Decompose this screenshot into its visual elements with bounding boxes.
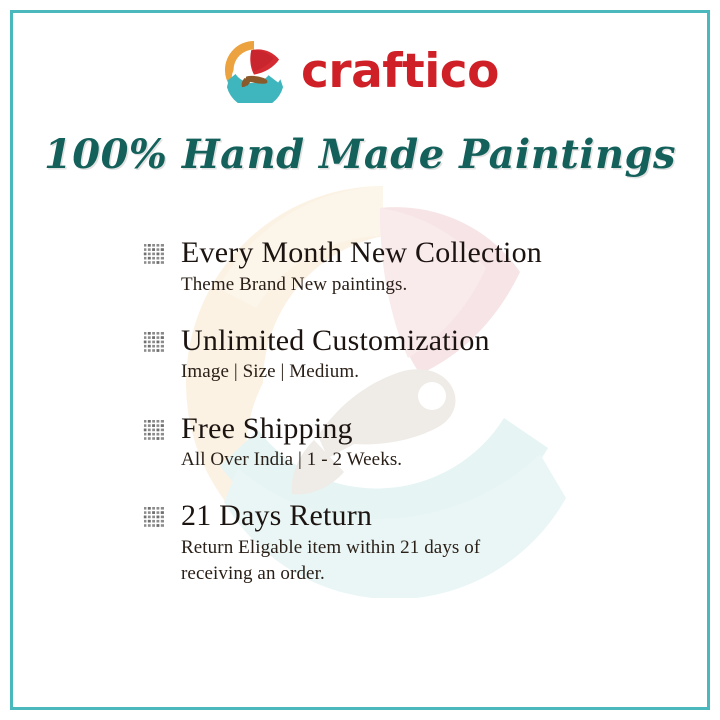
feature-text-block: Free Shipping All Over India | 1 - 2 Wee… — [181, 412, 613, 474]
feature-title: 21 Days Return — [181, 499, 613, 533]
craftico-circle-brush-logo-icon — [221, 37, 287, 103]
feature-subtitle: Theme Brand New paintings. — [181, 272, 613, 298]
page-title: 100% Hand Made Paintings — [0, 131, 720, 178]
brand-wordmark: craftico — [301, 48, 499, 95]
feature-title: Every Month New Collection — [181, 236, 613, 270]
feature-title: Unlimited Customization — [181, 324, 613, 358]
banner-canvas: craftico 100% Hand Made Paintings — [0, 0, 720, 720]
feature-title: Free Shipping — [181, 412, 613, 446]
woven-grid-bullet-icon — [143, 506, 165, 528]
feature-text-block: Unlimited Customization Image | Size | M… — [181, 324, 613, 386]
feature-subtitle: Return Eligable item within 21 days of r… — [181, 535, 541, 587]
woven-grid-bullet-icon — [143, 331, 165, 353]
feature-subtitle: Image | Size | Medium. — [181, 359, 613, 385]
list-item: Free Shipping All Over India | 1 - 2 Wee… — [143, 412, 613, 474]
feature-list: Every Month New Collection Theme Brand N… — [143, 236, 613, 587]
feature-subtitle: All Over India | 1 - 2 Weeks. — [181, 447, 613, 473]
brand-logo-lockup: craftico — [0, 34, 720, 106]
feature-text-block: Every Month New Collection Theme Brand N… — [181, 236, 613, 298]
woven-grid-bullet-icon — [143, 419, 165, 441]
woven-grid-bullet-icon — [143, 243, 165, 265]
list-item: Unlimited Customization Image | Size | M… — [143, 324, 613, 386]
feature-text-block: 21 Days Return Return Eligable item with… — [181, 499, 613, 587]
list-item: 21 Days Return Return Eligable item with… — [143, 499, 613, 587]
list-item: Every Month New Collection Theme Brand N… — [143, 236, 613, 298]
